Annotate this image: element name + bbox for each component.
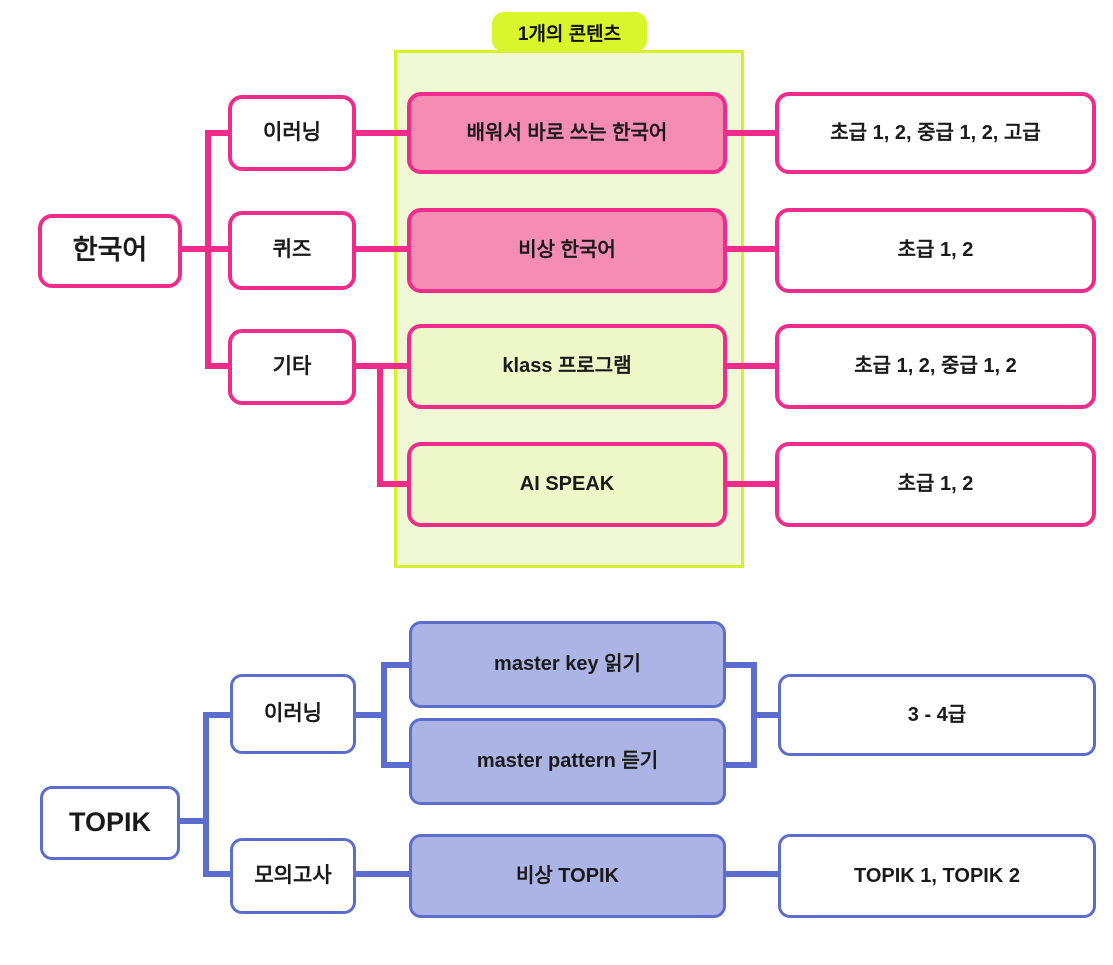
connector-topik-elearning-trunk [381,662,387,768]
topik-content-node-master-pattern[interactable]: master pattern 듣기 [409,718,726,805]
root-node-korean[interactable]: 한국어 [38,214,182,288]
connector-quiz-content [353,246,410,252]
level-node-korean-1[interactable]: 초급 1, 2, 중급 1, 2, 고급 [775,92,1096,174]
topik-category-node-elearning[interactable]: 이러닝 [230,674,356,754]
connector-etc-trunk [377,363,383,487]
content-node-klass-program[interactable]: klass 프로그램 [407,324,727,409]
connector-topik-root-trunk [203,712,209,877]
topik-content-node-bisang-topik[interactable]: 비상 TOPIK [409,834,726,918]
connector-bisang-to-level [723,871,782,877]
connector-content4-level4 [724,481,780,487]
connector-topik-branch-elearning [203,712,231,718]
content-node-baewoseo[interactable]: 배워서 바로 쓰는 한국어 [407,92,727,174]
category-node-elearning[interactable]: 이러닝 [228,95,356,171]
category-node-quiz[interactable]: 퀴즈 [228,211,356,290]
content-node-ai-speak[interactable]: AI SPEAK [407,442,727,527]
connector-content2-level2 [724,246,780,252]
level-node-korean-3[interactable]: 초급 1, 2, 중급 1, 2 [775,324,1096,409]
connector-elearning-content [353,130,410,136]
level-node-korean-2[interactable]: 초급 1, 2 [775,208,1096,293]
topik-level-node-1[interactable]: 3 - 4급 [778,674,1096,756]
content-node-bisang-korean[interactable]: 비상 한국어 [407,208,727,293]
topik-level-node-2[interactable]: TOPIK 1, TOPIK 2 [778,834,1096,918]
connector-content1-level1 [724,130,780,136]
connector-topik-branch-mock [203,871,231,877]
topik-content-node-master-key[interactable]: master key 읽기 [409,621,726,708]
connector-content3-level3 [724,363,780,369]
diagram-canvas: 1개의 콘텐츠 한국어 이러닝 퀴즈 기타 배워서 바로 쓰는 한국어 비상 한… [0,0,1113,965]
root-node-topik[interactable]: TOPIK [40,786,180,860]
topik-category-node-mock-exam[interactable]: 모의고사 [230,838,356,914]
content-group-tab-label: 1개의 콘텐츠 [492,12,647,52]
connector-mock-to-bisang [353,871,413,877]
level-node-korean-4[interactable]: 초급 1, 2 [775,442,1096,527]
category-node-etc[interactable]: 기타 [228,329,356,405]
